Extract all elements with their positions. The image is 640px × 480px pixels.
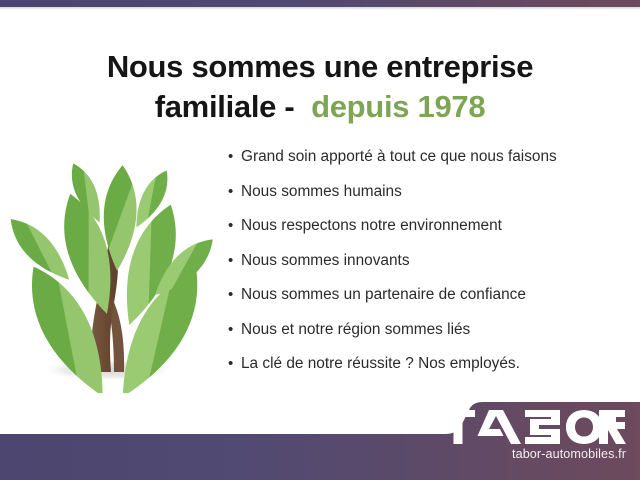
list-item: • Nous et notre région sommes liés — [228, 319, 628, 340]
list-item: • La clé de notre réussite ? Nos employé… — [228, 353, 628, 374]
list-item: • Nous respectons notre environnement — [228, 215, 628, 236]
bullet-marker-icon: • — [228, 319, 241, 340]
top-accent-bar — [0, 0, 640, 7]
headline-line-2-prefix: familiale — [155, 89, 276, 124]
headline-line-2: familiale - depuis 1978 — [24, 87, 616, 127]
headline-gap — [294, 89, 311, 124]
slide-canvas: Nous sommes une entreprise familiale - d… — [0, 0, 640, 480]
list-item-label: Nous et notre région sommes liés — [241, 319, 628, 340]
list-item-label: Nous sommes un partenaire de confiance — [241, 284, 628, 305]
headline-accent-year: depuis 1978 — [311, 89, 485, 124]
bullet-marker-icon: • — [228, 284, 241, 305]
brand-band: tabor-automobiles.fr — [0, 402, 640, 480]
brand-url-label: tabor-automobiles.fr — [436, 447, 626, 461]
list-item: • Nous sommes un partenaire de confiance — [228, 284, 628, 305]
headline-line-1: Nous sommes une entreprise — [107, 49, 533, 84]
list-item: • Grand soin apporté à tout ce que nous … — [228, 146, 628, 167]
bullet-marker-icon: • — [228, 181, 241, 202]
list-item-label: Nous sommes innovants — [241, 250, 628, 271]
list-item: • Nous sommes humains — [228, 181, 628, 202]
value-list: • Grand soin apporté à tout ce que nous … — [228, 146, 628, 388]
bullet-marker-icon: • — [228, 146, 241, 167]
list-item-label: Grand soin apporté à tout ce que nous fa… — [241, 146, 628, 167]
tree-illustration — [8, 148, 223, 393]
top-accent-bar-shadow — [0, 7, 640, 10]
tabor-wordmark-logo — [441, 410, 626, 444]
brand-lockup: tabor-automobiles.fr — [436, 410, 626, 461]
bullet-marker-icon: • — [228, 215, 241, 236]
list-item: • Nous sommes innovants — [228, 250, 628, 271]
bullet-marker-icon: • — [228, 353, 241, 374]
bullet-marker-icon: • — [228, 250, 241, 271]
list-item-label: Nous sommes humains — [241, 181, 628, 202]
headline-dash-glyph: - — [284, 89, 294, 124]
page-title: Nous sommes une entreprise familiale - d… — [0, 47, 640, 128]
list-item-label: La clé de notre réussite ? Nos employés. — [241, 353, 628, 374]
list-item-label: Nous respectons notre environnement — [241, 215, 628, 236]
